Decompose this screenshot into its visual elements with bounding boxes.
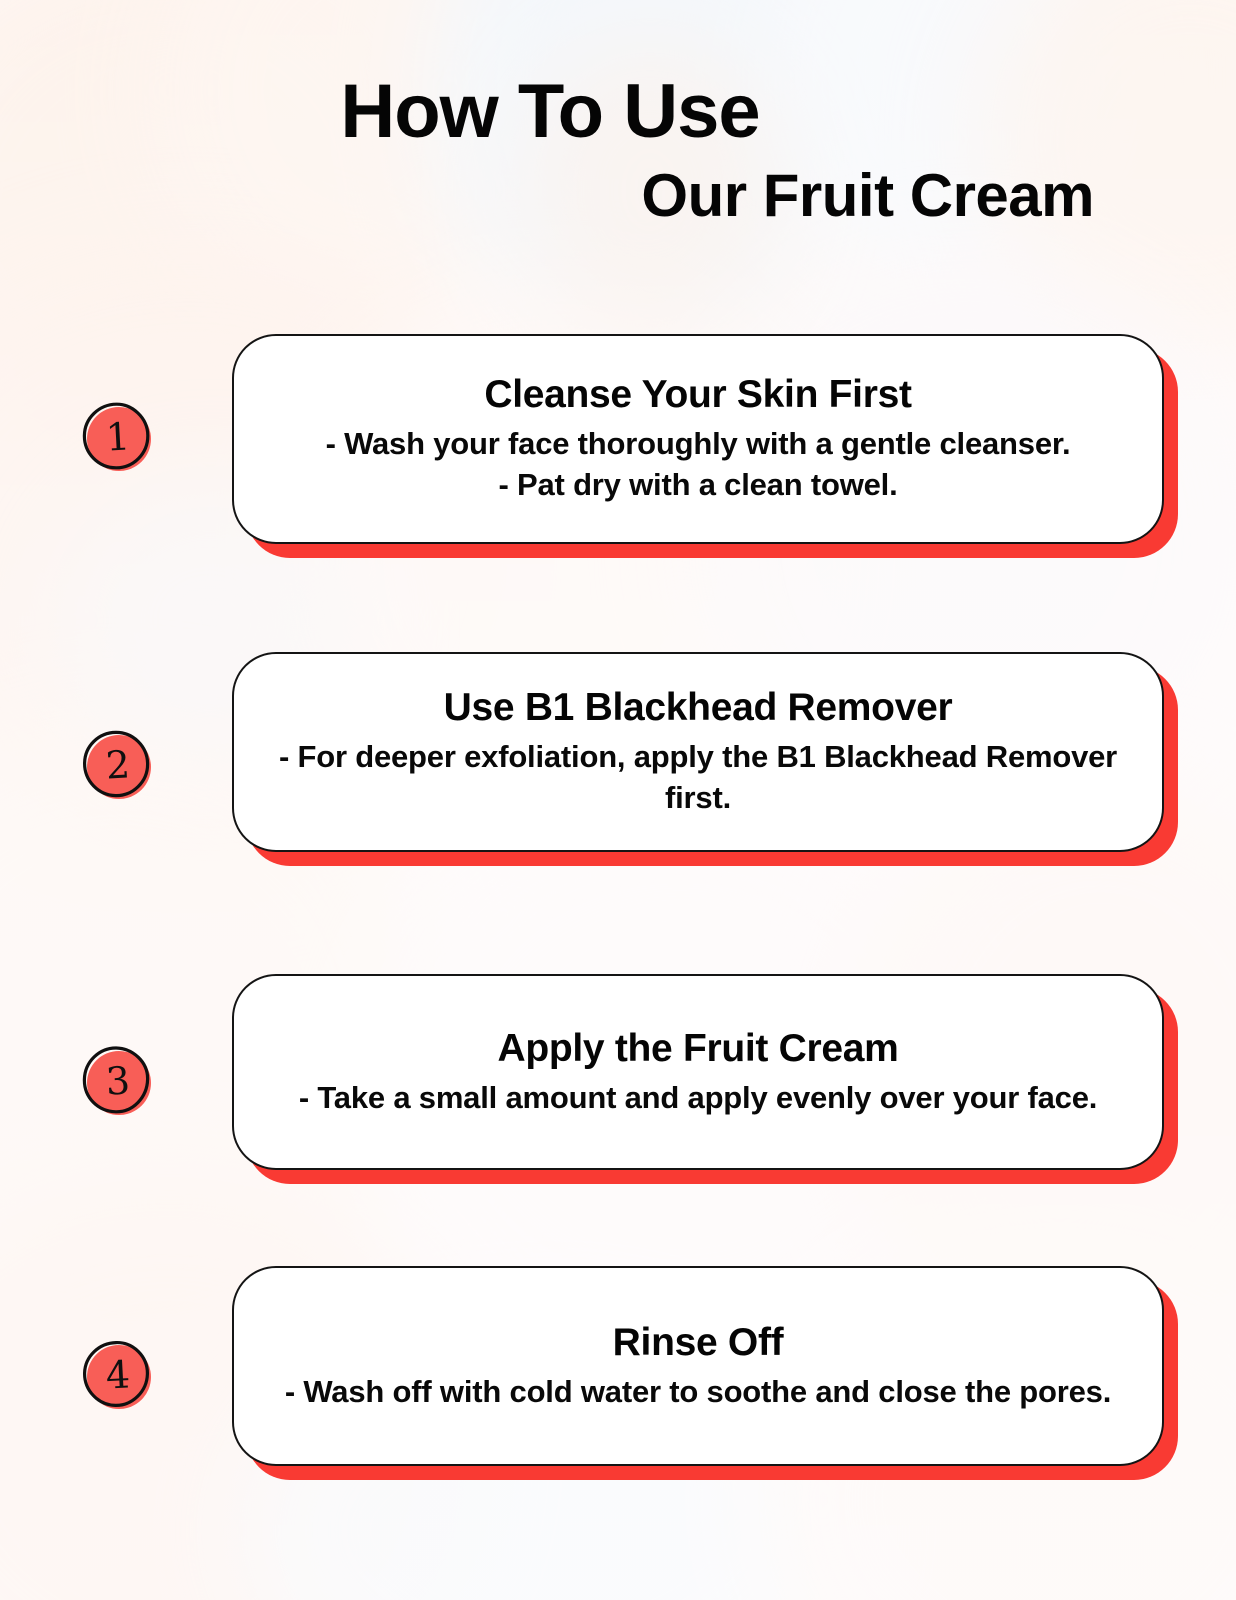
card-title: Apply the Fruit Cream	[497, 1026, 898, 1072]
card-body: - For deeper exfoliation, apply the B1 B…	[260, 737, 1136, 819]
infographic-page: How To Use Our Fruit Cream 1 Cleanse You…	[0, 0, 1236, 1600]
step-item: 3 Apply the Fruit Cream - Take a small a…	[0, 974, 1236, 1182]
card-title: Rinse Off	[613, 1320, 784, 1366]
step-item: 2 Use B1 Blackhead Remover - For deeper …	[0, 652, 1236, 862]
badge-number: 3	[80, 1044, 156, 1120]
card-body: - Wash your face thoroughly with a gentl…	[326, 424, 1071, 506]
steps-list: 1 Cleanse Your Skin First - Wash your fa…	[0, 0, 1236, 1600]
card-surface: Use B1 Blackhead Remover - For deeper ex…	[232, 652, 1164, 852]
card-body: - Take a small amount and apply evenly o…	[299, 1078, 1097, 1119]
step-badge-3: 3	[82, 1046, 154, 1118]
card-title: Use B1 Blackhead Remover	[444, 685, 953, 731]
step-item: 1 Cleanse Your Skin First - Wash your fa…	[0, 334, 1236, 556]
card-title: Cleanse Your Skin First	[484, 372, 911, 418]
badge-number: 1	[80, 400, 156, 476]
badge-number: 2	[80, 728, 156, 804]
badge-number: 4	[80, 1338, 156, 1414]
step-card: Apply the Fruit Cream - Take a small amo…	[232, 974, 1164, 1170]
step-card: Rinse Off - Wash off with cold water to …	[232, 1266, 1164, 1466]
step-badge-2: 2	[82, 730, 154, 802]
step-item: 4 Rinse Off - Wash off with cold water t…	[0, 1266, 1236, 1478]
step-card: Use B1 Blackhead Remover - For deeper ex…	[232, 652, 1164, 852]
step-badge-4: 4	[82, 1340, 154, 1412]
card-surface: Rinse Off - Wash off with cold water to …	[232, 1266, 1164, 1466]
card-body: - Wash off with cold water to soothe and…	[285, 1372, 1111, 1413]
step-badge-1: 1	[82, 402, 154, 474]
card-surface: Apply the Fruit Cream - Take a small amo…	[232, 974, 1164, 1170]
step-card: Cleanse Your Skin First - Wash your face…	[232, 334, 1164, 544]
card-surface: Cleanse Your Skin First - Wash your face…	[232, 334, 1164, 544]
